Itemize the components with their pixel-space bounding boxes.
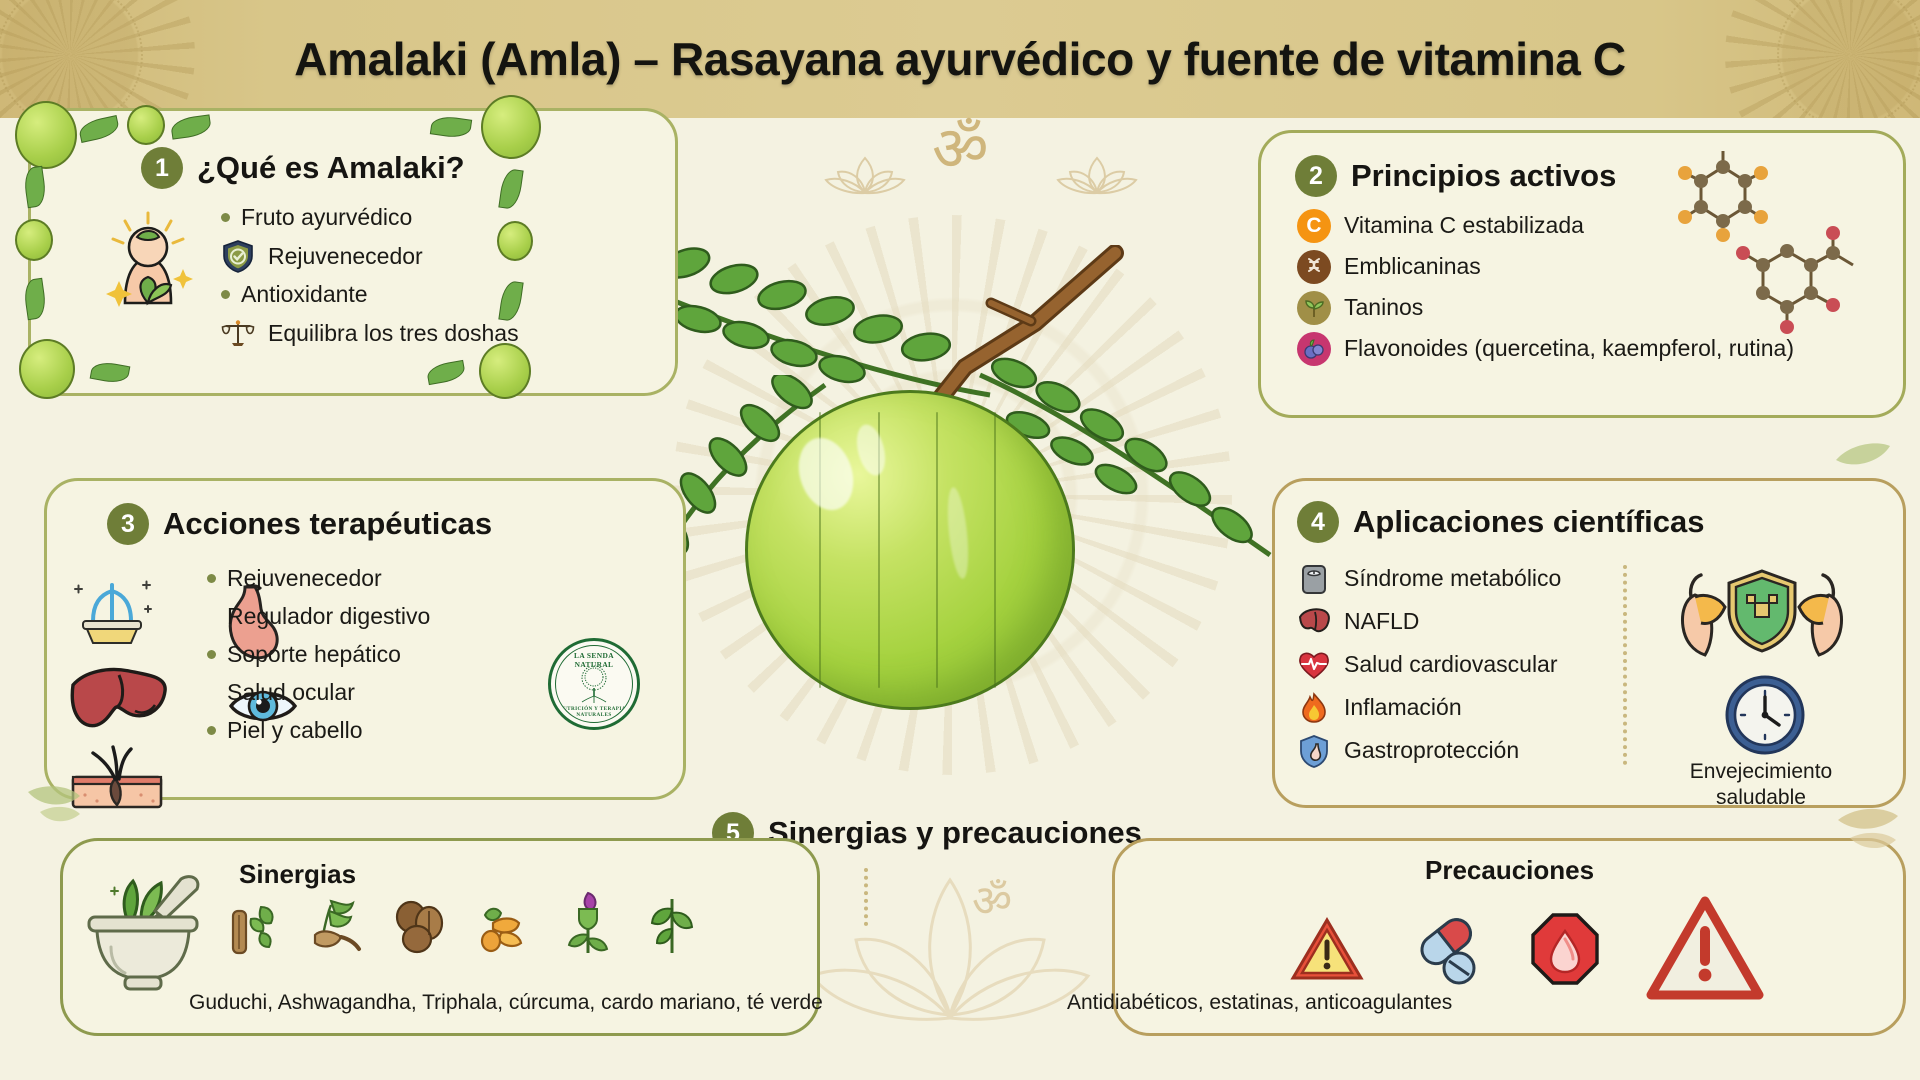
section-4-list: Síndrome metabólico NAFLD Salud cardiova… <box>1297 557 1561 772</box>
list-item-label: Síndrome metabólico <box>1344 565 1561 592</box>
list-item: C Vitamina C estabilizada <box>1297 205 1794 246</box>
decor-leaf-icon-3 <box>1824 790 1920 870</box>
vine-berry <box>19 339 75 399</box>
clock-icon <box>1723 673 1807 757</box>
flame-icon <box>1297 691 1331 725</box>
list-item-label: Taninos <box>1344 294 1423 321</box>
green-tea-icon <box>643 889 701 959</box>
list-item: Antioxidante <box>221 276 519 313</box>
list-item-label: Equilibra los tres doshas <box>268 320 519 347</box>
precautions-heading: Precauciones <box>1425 855 1594 886</box>
list-item-label: NAFLD <box>1344 608 1419 635</box>
section-heading-2: 2 Principios activos <box>1295 155 1616 197</box>
infographic-root: Amalaki (Amla) – Rasayana ayurvédico y f… <box>0 0 1920 1080</box>
list-item: Inflamación <box>1297 686 1561 729</box>
list-item-label: Vitamina C estabilizada <box>1344 212 1584 239</box>
om-background-icon: ॐ <box>972 880 1012 924</box>
blood-drop-icon <box>1529 911 1601 987</box>
section-number-badge-3: 3 <box>107 503 149 545</box>
list-item-label: Rejuvenecedor <box>268 243 423 270</box>
om-icon: ॐ <box>932 118 989 180</box>
list-item-label: Gastroprotección <box>1344 737 1519 764</box>
liver-icon <box>67 663 171 739</box>
mortar-pestle-icon <box>75 869 211 999</box>
list-item: Salud cardiovascular <box>1297 643 1561 686</box>
section-heading-1: 1 ¿Qué es Amalaki? <box>141 147 465 189</box>
vine-berry <box>15 101 77 169</box>
list-item-label: Soporte hepático <box>227 641 401 668</box>
vine-berry <box>481 95 541 159</box>
bullet-dot-icon <box>221 213 230 222</box>
mandala-ornament-right <box>1725 0 1920 118</box>
logo-top-text: LA SENDA NATURAL <box>556 651 632 669</box>
vine-leaf <box>170 114 212 139</box>
section-heading-4: 4 Aplicaciones científicas <box>1297 501 1704 543</box>
precaution-icons <box>1289 895 1765 1003</box>
section-title-5: Sinergias y precauciones <box>768 815 1142 851</box>
section-title-1: ¿Qué es Amalaki? <box>197 150 465 186</box>
list-item: Síndrome metabólico <box>1297 557 1561 600</box>
list-item-label: Piel y cabello <box>227 717 363 744</box>
fountain-icon <box>69 569 155 649</box>
vine-leaf <box>90 360 131 385</box>
synergy-herb-icons <box>223 889 701 959</box>
synergies-caption: Guduchi, Ashwagandha, Triphala, cúrcuma,… <box>189 991 823 1015</box>
list-item-label: Salud cardiovascular <box>1344 651 1558 678</box>
list-item: Fruto ayurvédico <box>221 199 519 236</box>
panel-synergies: Sinergias <box>60 838 820 1036</box>
triphala-icon <box>391 889 449 959</box>
list-item-label: Inflamación <box>1344 694 1462 721</box>
list-item: Soporte hepático <box>207 635 430 673</box>
amla-illustration <box>600 185 1300 745</box>
logo-inner-ring: LA SENDA NATURAL NUTRICIÓN Y TERAPIAS NA… <box>555 645 633 723</box>
list-item: NAFLD <box>1297 600 1561 643</box>
liver-icon <box>1297 605 1331 639</box>
vine-leaf <box>430 114 472 139</box>
vertical-divider <box>1623 565 1627 765</box>
glowing-person-leaf-icon <box>99 207 197 327</box>
section-1-list: Fruto ayurvédico Rejuvenecedor Antioxida… <box>221 199 519 353</box>
list-item: Flavonoides (quercetina, kaempferol, rut… <box>1297 328 1794 369</box>
precautions-caption: Antidiabéticos, estatinas, anticoagulant… <box>1067 991 1452 1015</box>
list-item-label: Fruto ayurvédico <box>241 204 412 231</box>
dna-icon <box>1297 250 1331 284</box>
list-item-label: Emblicaninas <box>1344 253 1481 280</box>
bullet-dot-icon <box>207 650 216 659</box>
list-item: Emblicaninas <box>1297 246 1794 287</box>
panel-what-is-amalaki: 1 ¿Qué es Amalaki? Fruto ayurvédico <box>28 108 678 396</box>
list-item: Rejuvenecedor <box>207 559 430 597</box>
section-number-badge-1: 1 <box>141 147 183 189</box>
heart-pulse-icon <box>1297 648 1331 682</box>
list-item-label: Regulador digestivo <box>227 603 430 630</box>
vine-leaf <box>77 115 120 143</box>
shield-stomach-icon <box>1297 734 1331 768</box>
bullet-dot-icon <box>207 726 216 735</box>
list-item: Rejuvenecedor <box>221 236 519 276</box>
weight-scale-icon <box>1297 562 1331 596</box>
balance-scale-icon <box>221 316 255 350</box>
brand-logo: LA SENDA NATURAL NUTRICIÓN Y TERAPIAS NA… <box>548 638 640 730</box>
list-item: Taninos <box>1297 287 1794 328</box>
mandala-ornament-left <box>0 0 195 118</box>
panel-scientific-applications: 4 Aplicaciones científicas Síndrome meta… <box>1272 478 1906 808</box>
warning-triangle-icon <box>1289 914 1365 984</box>
section-2-list: C Vitamina C estabilizada Emblicaninas <box>1297 205 1794 369</box>
turmeric-icon <box>475 889 533 959</box>
synergies-heading: Sinergias <box>239 859 356 890</box>
list-item: Salud ocular <box>207 673 430 711</box>
list-item-label: Rejuvenecedor <box>227 565 382 592</box>
section-number-badge-2: 2 <box>1295 155 1337 197</box>
vine-berry <box>15 219 53 261</box>
vine-leaf <box>22 278 47 320</box>
milk-thistle-icon <box>559 889 617 959</box>
hands-shield-icon <box>1667 567 1857 677</box>
section-title-3: Acciones terapéuticas <box>163 506 492 542</box>
list-item-label: Antioxidante <box>241 281 368 308</box>
berries-icon <box>1297 332 1331 366</box>
vertical-divider-5 <box>864 868 868 926</box>
panel-precautions: Precauciones <box>1112 838 1906 1036</box>
decor-leaf-icon-2 <box>1828 426 1908 486</box>
panel-active-principles: 2 Principios activos <box>1258 130 1906 418</box>
vine-leaf <box>426 360 467 385</box>
pills-icon <box>1409 911 1485 987</box>
sprout-icon <box>1297 291 1331 325</box>
decor-leaf-icon <box>18 772 108 842</box>
list-item-label: Flavonoides (quercetina, kaempferol, rut… <box>1344 335 1794 362</box>
logo-bottom-text: NUTRICIÓN Y TERAPIAS NATURALES <box>556 706 632 718</box>
section-title-2: Principios activos <box>1351 158 1616 194</box>
amla-fruit-body <box>745 390 1075 710</box>
vitamin-c-icon: C <box>1297 209 1331 243</box>
section-number-badge-4: 4 <box>1297 501 1339 543</box>
list-item: Equilibra los tres doshas <box>221 313 519 353</box>
list-item: Piel y cabello <box>207 711 430 749</box>
list-item: Gastroprotección <box>1297 729 1561 772</box>
list-item: Regulador digestivo <box>207 597 430 635</box>
bullet-dot-icon <box>207 574 216 583</box>
list-item-label: Salud ocular <box>227 679 355 706</box>
section-heading-3: 3 Acciones terapéuticas <box>107 503 492 545</box>
bullet-dot-icon <box>221 290 230 299</box>
vine-leaf <box>22 166 47 208</box>
section-title-4: Aplicaciones científicas <box>1353 504 1704 540</box>
page-title: Amalaki (Amla) – Rasayana ayurvédico y f… <box>294 32 1625 86</box>
lotus-background-icon <box>800 860 1100 1030</box>
shield-check-icon <box>221 239 255 273</box>
section-3-list: Rejuvenecedor Regulador digestivo Soport… <box>207 559 430 749</box>
ashwagandha-icon <box>307 889 365 959</box>
vine-berry <box>127 105 165 145</box>
header-banner: Amalaki (Amla) – Rasayana ayurvédico y f… <box>0 0 1920 118</box>
big-warning-triangle-icon <box>1645 895 1765 1003</box>
guduchi-icon <box>223 889 281 959</box>
